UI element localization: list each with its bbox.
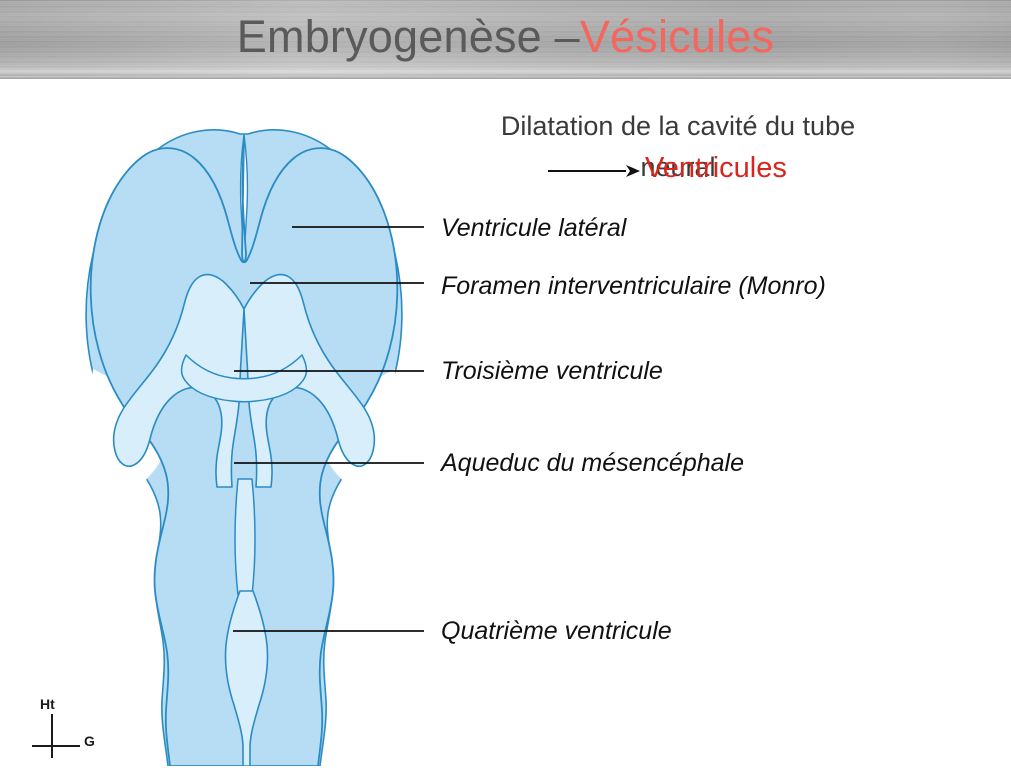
ventricular-system-diagram xyxy=(0,79,1011,766)
label-aqueduc-mesencephale: Aqueduc du mésencéphale xyxy=(441,449,744,478)
orientation-label-left: G xyxy=(84,733,95,749)
page-title-main: Embryogenèse – xyxy=(237,11,580,63)
orientation-label-up: Ht xyxy=(40,696,55,712)
page-title-accent: Vésicules xyxy=(580,11,774,63)
arrow-right-icon xyxy=(548,163,640,179)
label-foramen-monro: Foramen interventriculaire (Monro) xyxy=(441,272,826,301)
label-ventricule-lateral: Ventricule latéral xyxy=(441,214,626,243)
page-title: Embryogenèse – Vésicules xyxy=(0,0,1011,79)
slide-title-bar: Embryogenèse – Vésicules xyxy=(0,0,1011,79)
label-troisieme-ventricule: Troisième ventricule xyxy=(441,357,663,386)
label-quatrieme-ventricule: Quatrième ventricule xyxy=(441,617,672,646)
orientation-marker: Ht G xyxy=(30,696,140,762)
